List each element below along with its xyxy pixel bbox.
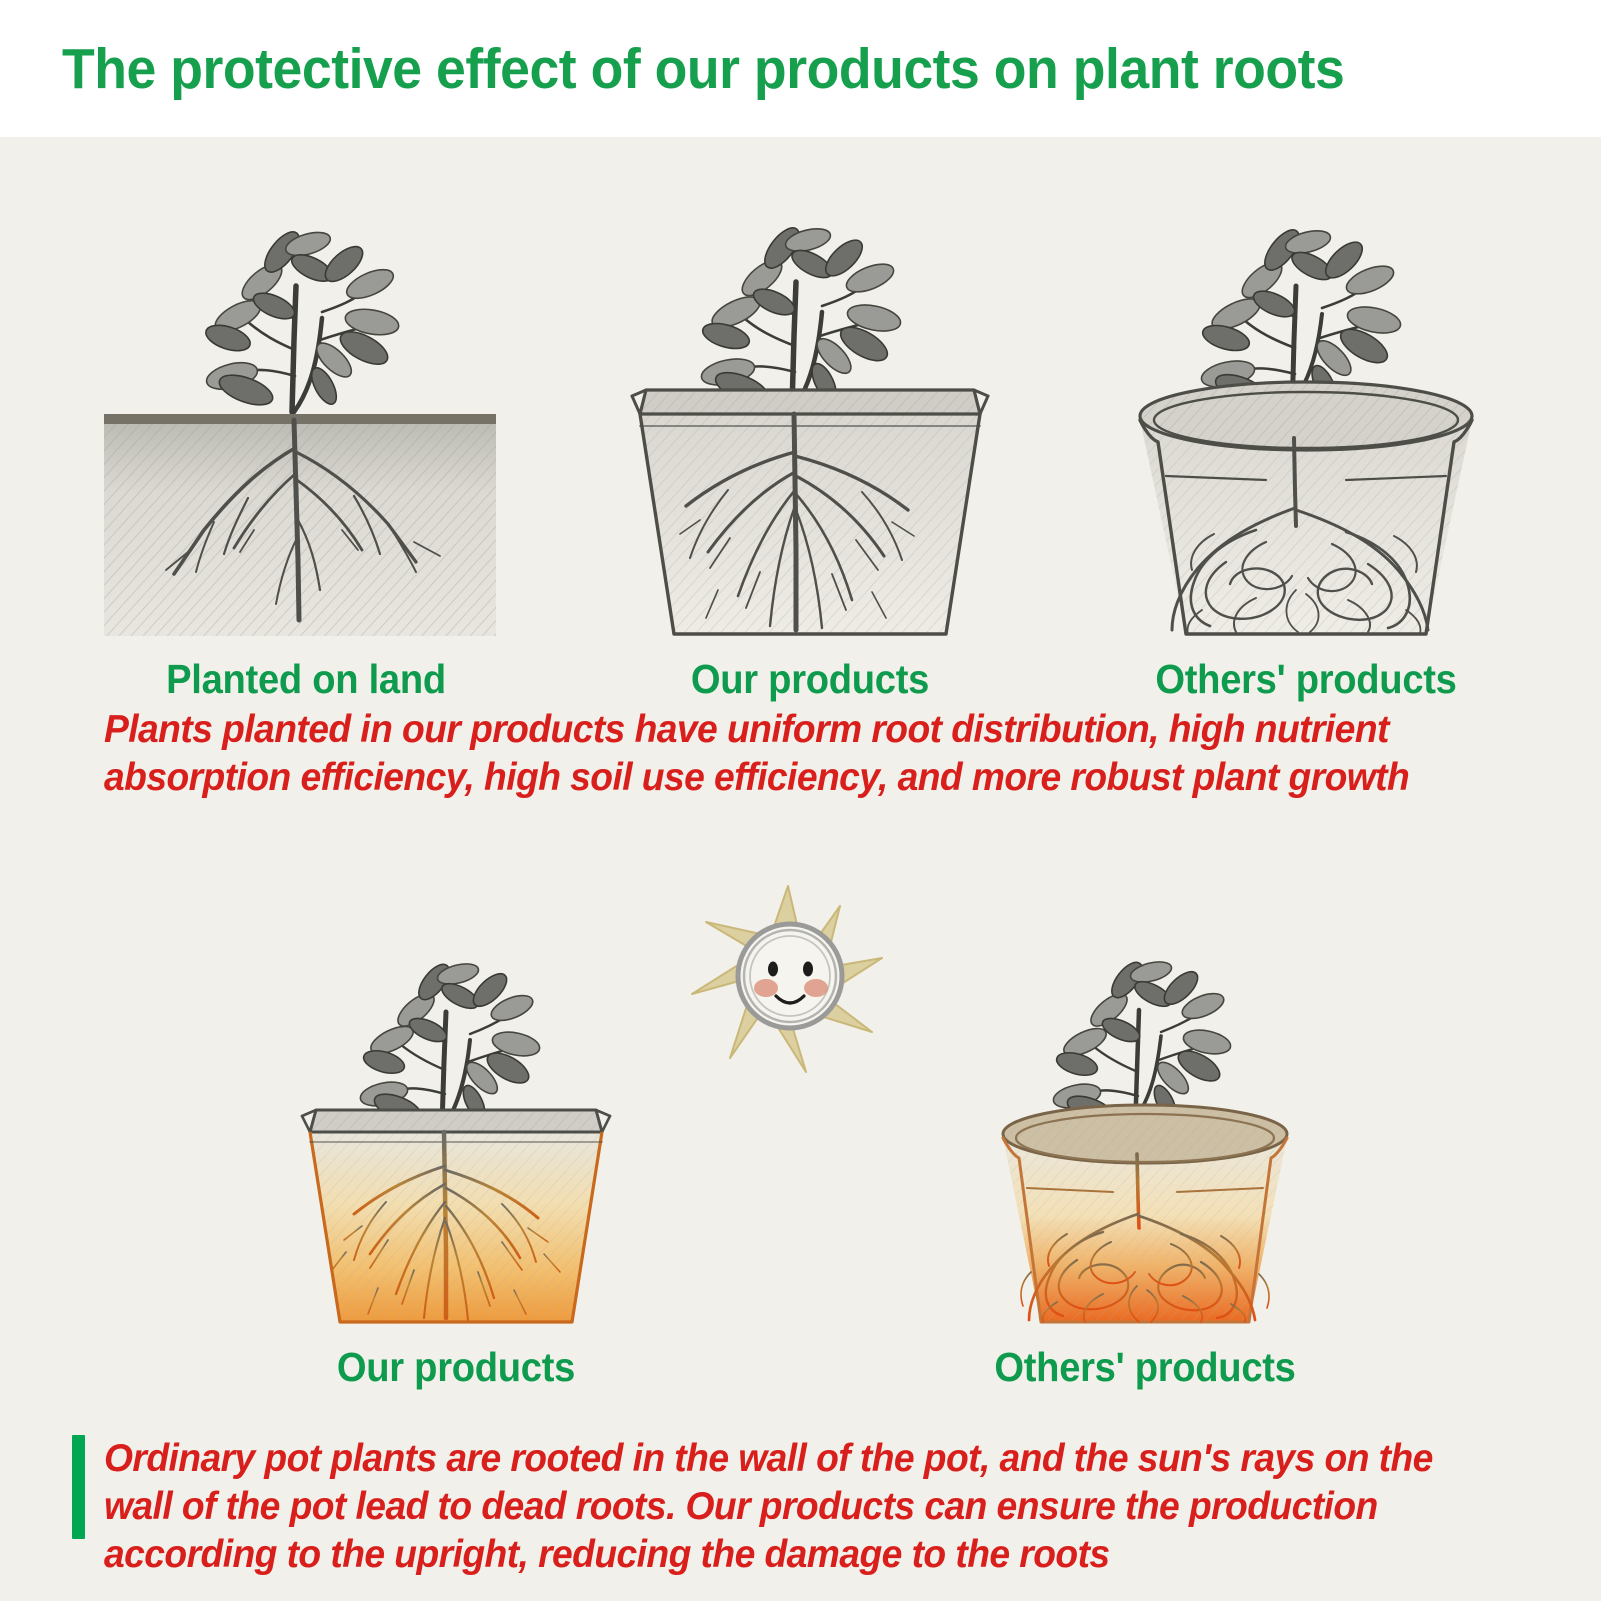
panel-our-products-bottom: Our products bbox=[286, 930, 626, 1391]
note-block-bottom: Ordinary pot plants are rooted in the wa… bbox=[72, 1435, 1572, 1585]
panel-label: Others' products bbox=[987, 1344, 1303, 1391]
panel-planted-on-land: Planted on land bbox=[96, 190, 516, 703]
note-block-top: Plants planted in our products have unif… bbox=[72, 706, 1542, 810]
panel-label: Our products bbox=[298, 1344, 614, 1391]
square-pot-even-roots-illustration bbox=[610, 190, 1010, 640]
panel-label: Others' products bbox=[1120, 656, 1492, 703]
panel-others-products-top: Others' products bbox=[1106, 190, 1506, 703]
square-pot-heated-even-roots-illustration bbox=[286, 930, 626, 1330]
round-pot-heated-tangled-roots-illustration bbox=[975, 930, 1315, 1330]
note-accent-bar bbox=[72, 1435, 85, 1539]
panel-our-products-top: Our products bbox=[610, 190, 1010, 703]
smiling-sun-icon bbox=[676, 872, 906, 1082]
page-title: The protective effect of our products on… bbox=[62, 36, 1344, 102]
panel-label: Our products bbox=[624, 656, 996, 703]
round-pot-tangled-roots-illustration bbox=[1106, 190, 1506, 640]
note-text: Ordinary pot plants are rooted in the wa… bbox=[104, 1435, 1433, 1579]
sun-illustration bbox=[676, 872, 906, 1082]
soil-block-roots-illustration bbox=[96, 190, 516, 640]
panel-others-products-bottom: Others' products bbox=[975, 930, 1315, 1391]
panel-label: Planted on land bbox=[111, 656, 502, 703]
infographic-canvas: The protective effect of our products on… bbox=[0, 0, 1601, 1601]
note-text: Plants planted in our products have unif… bbox=[104, 706, 1409, 802]
title-banner: The protective effect of our products on… bbox=[0, 0, 1601, 137]
